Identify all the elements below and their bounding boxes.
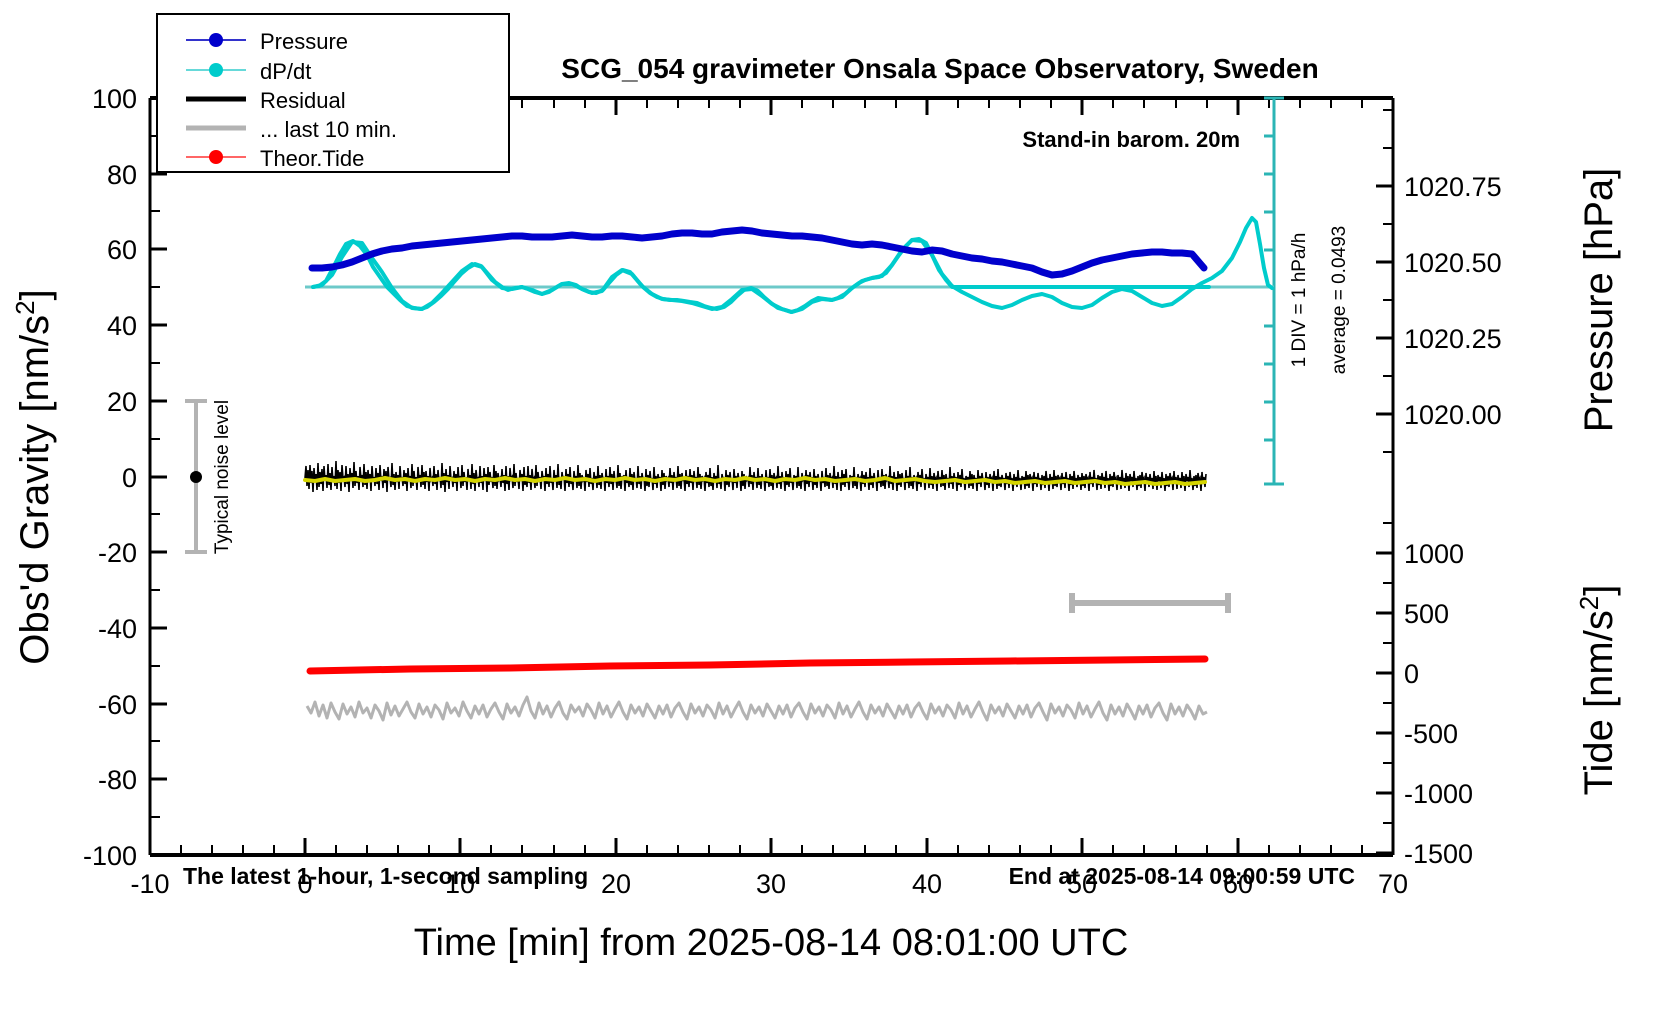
pressure-tick-label: 1020.50 — [1404, 248, 1502, 278]
tide-tick-label: 500 — [1404, 599, 1449, 629]
tide-tick-label: -1000 — [1404, 779, 1473, 809]
svg-text:Typical noise level: Typical noise level — [212, 400, 233, 554]
tide-axis-title-post: ] — [1577, 585, 1621, 596]
y-left-tick-label: 0 — [122, 463, 137, 493]
standin-barom-label: Stand-in barom. 20m — [1022, 127, 1240, 152]
dpdt-div-label: 1 DIV = 1 hPa/h — [1289, 233, 1310, 368]
y-left-tick-label: -40 — [98, 614, 137, 644]
y-left-tick-label: 60 — [107, 235, 137, 265]
pressure-tick-label: 1020.75 — [1404, 172, 1502, 202]
page-title: SCG_054 gravimeter Onsala Space Observat… — [561, 53, 1318, 84]
tide-tick-label: 1000 — [1404, 539, 1464, 569]
footer-left-label: The latest 1-hour, 1-second sampling — [183, 863, 588, 889]
x-tick-label: 30 — [756, 869, 786, 899]
tide-axis-title-text: Tide [nm/s — [1577, 610, 1621, 795]
tide-tick-label: -500 — [1404, 719, 1458, 749]
pressure-tick-label: 1020.25 — [1404, 324, 1502, 354]
y-left-axis-title-text: Obs'd Gravity [nm/s — [13, 315, 57, 665]
tide-axis-title-sup: 2 — [1574, 596, 1604, 610]
typical-noise-level-label: Typical noise level — [212, 400, 233, 554]
y-left-tick-label: -20 — [98, 538, 137, 568]
legend-label: dP/dt — [260, 59, 311, 84]
y-left-tick-label: -60 — [98, 690, 137, 720]
dpdt-average-label: average = 0.0493 — [1329, 226, 1350, 374]
x-tick-label: -10 — [130, 869, 169, 899]
y-left-axis-title: Obs'd Gravity [nm/s2] — [10, 289, 57, 665]
y-left-tick-label: -100 — [83, 841, 137, 871]
footer-right-label: End at 2025-08-14 09:00:59 UTC — [1009, 863, 1355, 889]
pressure-tick-label: 1020.00 — [1404, 400, 1502, 430]
legend: Pressure dP/dt Residual ... last 10 min.… — [157, 14, 509, 172]
y-left-tick-label: 100 — [92, 84, 137, 114]
tide-tick-label: 0 — [1404, 659, 1419, 689]
svg-text:Obs'd Gravity [nm/s2]: Obs'd Gravity [nm/s2] — [10, 289, 57, 665]
legend-label: Theor.Tide — [260, 146, 364, 171]
y-right-tide-axis-title: Tide [nm/s2] — [1574, 585, 1621, 796]
gravimeter-plot-page: -10 0 10 20 30 40 50 60 70 Time [min] fr… — [0, 0, 1660, 1020]
y-left-tick-label: 40 — [107, 311, 137, 341]
y-left-axis-title-sup: 2 — [10, 300, 40, 314]
x-tick-label: 70 — [1378, 869, 1408, 899]
svg-text:Tide [nm/s2]: Tide [nm/s2] — [1574, 585, 1621, 796]
x-tick-label: 20 — [601, 869, 631, 899]
pressure-axis-title-text: Pressure [hPa] — [1577, 168, 1621, 433]
x-tick-label: 40 — [912, 869, 942, 899]
y-left-axis-title-post: ] — [13, 289, 57, 300]
tide-tick-label: -1500 — [1404, 839, 1473, 869]
x-axis-title: Time [min] from 2025-08-14 08:01:00 UTC — [414, 922, 1129, 964]
y-right-pressure-axis-title: Pressure [hPa] — [1577, 168, 1621, 433]
y-left-tick-label: 80 — [107, 160, 137, 190]
legend-label: Residual — [260, 88, 346, 113]
legend-label: ... last 10 min. — [260, 117, 397, 142]
y-left-tick-label: -80 — [98, 765, 137, 795]
chart-svg: -10 0 10 20 30 40 50 60 70 Time [min] fr… — [0, 0, 1660, 1020]
svg-text:average = 0.0493: average = 0.0493 — [1329, 226, 1350, 374]
legend-label: Pressure — [260, 29, 348, 54]
svg-text:1 DIV = 1 hPa/h: 1 DIV = 1 hPa/h — [1289, 233, 1310, 368]
y-left-tick-label: 20 — [107, 387, 137, 417]
